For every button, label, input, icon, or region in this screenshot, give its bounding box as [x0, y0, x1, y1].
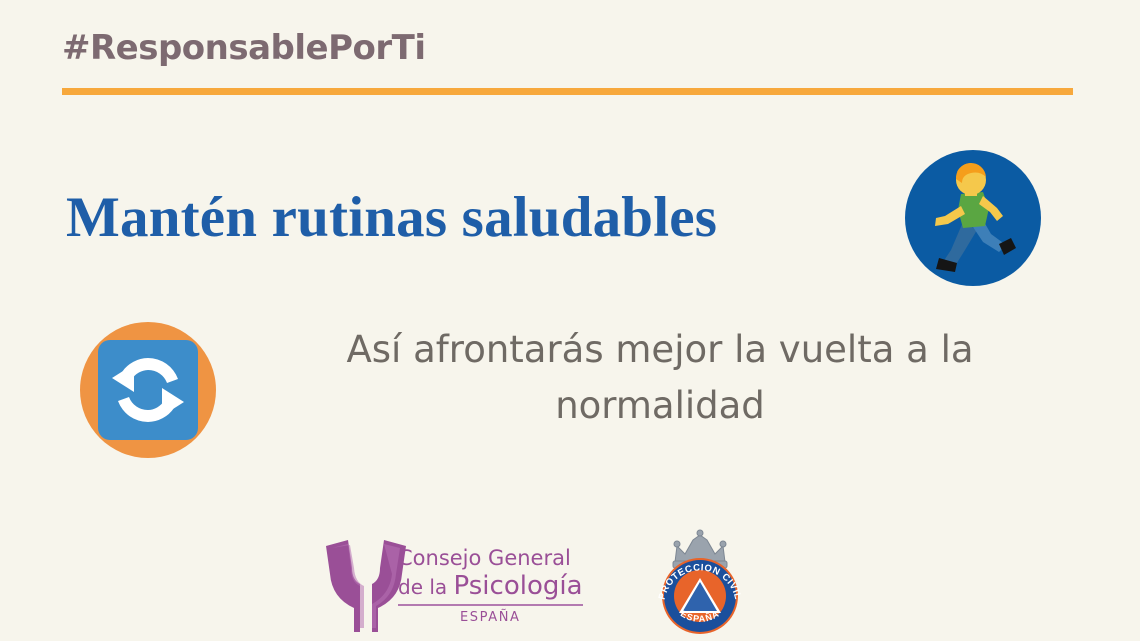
campaign-hashtag: #ResponsablePorTi [62, 28, 426, 68]
header-divider-rule [62, 88, 1073, 95]
consejo-general-psicologia-logo: Consejo General de la Psicología ESPAÑA [322, 528, 544, 636]
psicologia-line-3: ESPAÑA [398, 610, 583, 625]
refresh-icon-square [98, 340, 198, 440]
psicologia-line-2-main: Psicología [454, 571, 583, 601]
page-subtitle: Así afrontarás mejor la vuelta a la norm… [250, 322, 1070, 434]
psicologia-logo-text: Consejo General de la Psicología ESPAÑA [398, 546, 583, 625]
psicologia-line-2-prefix: de la [398, 575, 454, 599]
proteccion-civil-espana-logo: PROTECCION CIVIL ESPAÑA [645, 528, 755, 638]
psicologia-line-2: de la Psicología [398, 571, 583, 606]
refresh-sync-icon [80, 322, 216, 458]
psi-symbol-icon [322, 528, 408, 636]
running-person-icon [905, 150, 1041, 286]
psicologia-line-1: Consejo General [398, 546, 583, 571]
page-title: Mantén rutinas saludables [66, 186, 717, 250]
slide-root: #ResponsablePorTi Mantén rutinas saludab… [0, 0, 1140, 641]
